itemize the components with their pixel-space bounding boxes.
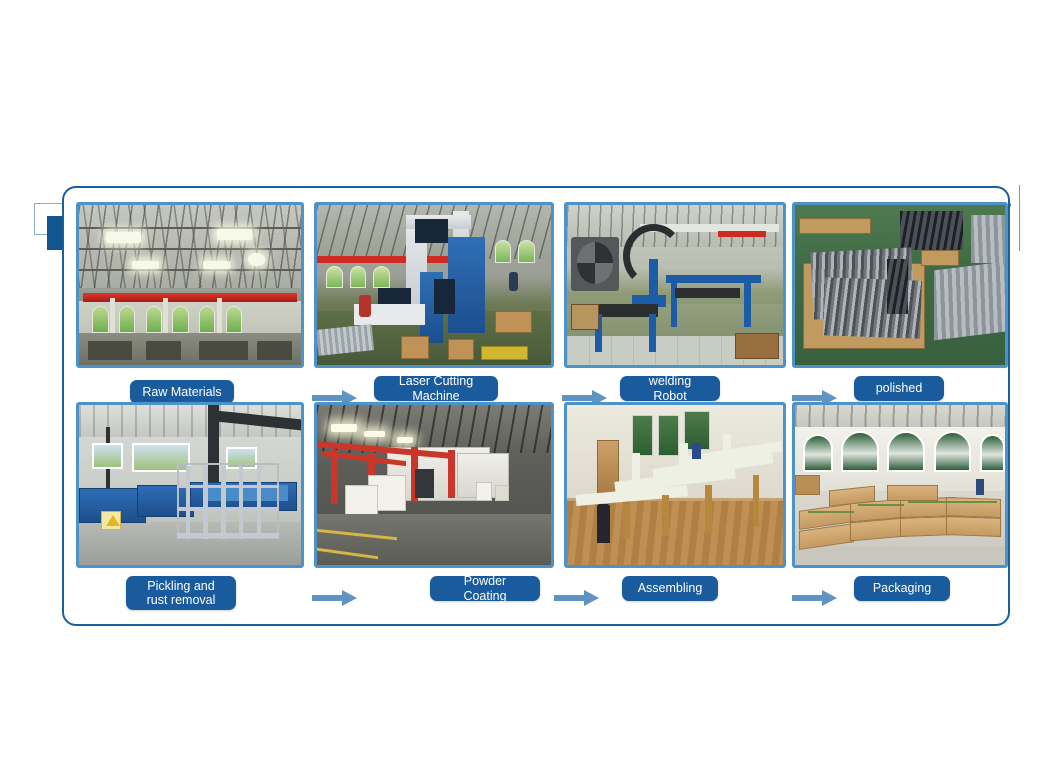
step-label-polished[interactable]: polished bbox=[854, 376, 944, 401]
step-photo-laser-cutting-machine bbox=[314, 202, 554, 368]
step-label-pickling-rust-removal[interactable]: Pickling and rust removal bbox=[126, 576, 236, 610]
step-label-packaging[interactable]: Packaging bbox=[854, 576, 950, 601]
workflow-step-polished[interactable]: polished bbox=[792, 196, 1008, 403]
step-label-powder-coating[interactable]: Powder Coating bbox=[430, 576, 540, 601]
step-label-welding-robot[interactable]: welding Robot bbox=[620, 376, 720, 401]
workflow-frame: Raw Materials bbox=[62, 186, 1010, 626]
workflow-step-welding-robot[interactable]: welding Robot bbox=[564, 196, 786, 403]
step-photo-polished bbox=[792, 202, 1008, 368]
page-header: Production Workflow Chart TOP OST bbox=[0, 92, 1060, 164]
step-photo-pickling-rust-removal bbox=[76, 402, 304, 568]
step-label-assembling[interactable]: Assembling bbox=[622, 576, 718, 601]
workflow-row-2: Pickling and rust removal bbox=[64, 402, 1012, 609]
step-photo-assembling bbox=[564, 402, 786, 568]
step-photo-packaging bbox=[792, 402, 1008, 568]
step-photo-raw-materials bbox=[76, 202, 304, 368]
workflow-step-assembling[interactable]: Assembling bbox=[564, 402, 786, 609]
workflow-step-raw-materials[interactable]: Raw Materials bbox=[76, 196, 304, 403]
step-photo-welding-robot bbox=[564, 202, 786, 368]
workflow-step-powder-coating[interactable]: Powder Coating bbox=[314, 402, 554, 609]
workflow-step-laser-cutting-machine[interactable]: Laser Cutting Machine bbox=[314, 196, 554, 403]
header-divider bbox=[1019, 185, 1021, 251]
step-label-raw-materials[interactable]: Raw Materials bbox=[130, 380, 234, 404]
step-photo-powder-coating bbox=[314, 402, 554, 568]
slide-page: Production Workflow Chart TOP OST bbox=[0, 0, 1060, 762]
workflow-step-pickling-rust-removal[interactable]: Pickling and rust removal bbox=[76, 402, 304, 609]
step-label-laser-cutting-machine[interactable]: Laser Cutting Machine bbox=[374, 376, 498, 401]
workflow-step-packaging[interactable]: Packaging bbox=[792, 402, 1008, 609]
workflow-row-1: Raw Materials bbox=[64, 196, 1012, 403]
